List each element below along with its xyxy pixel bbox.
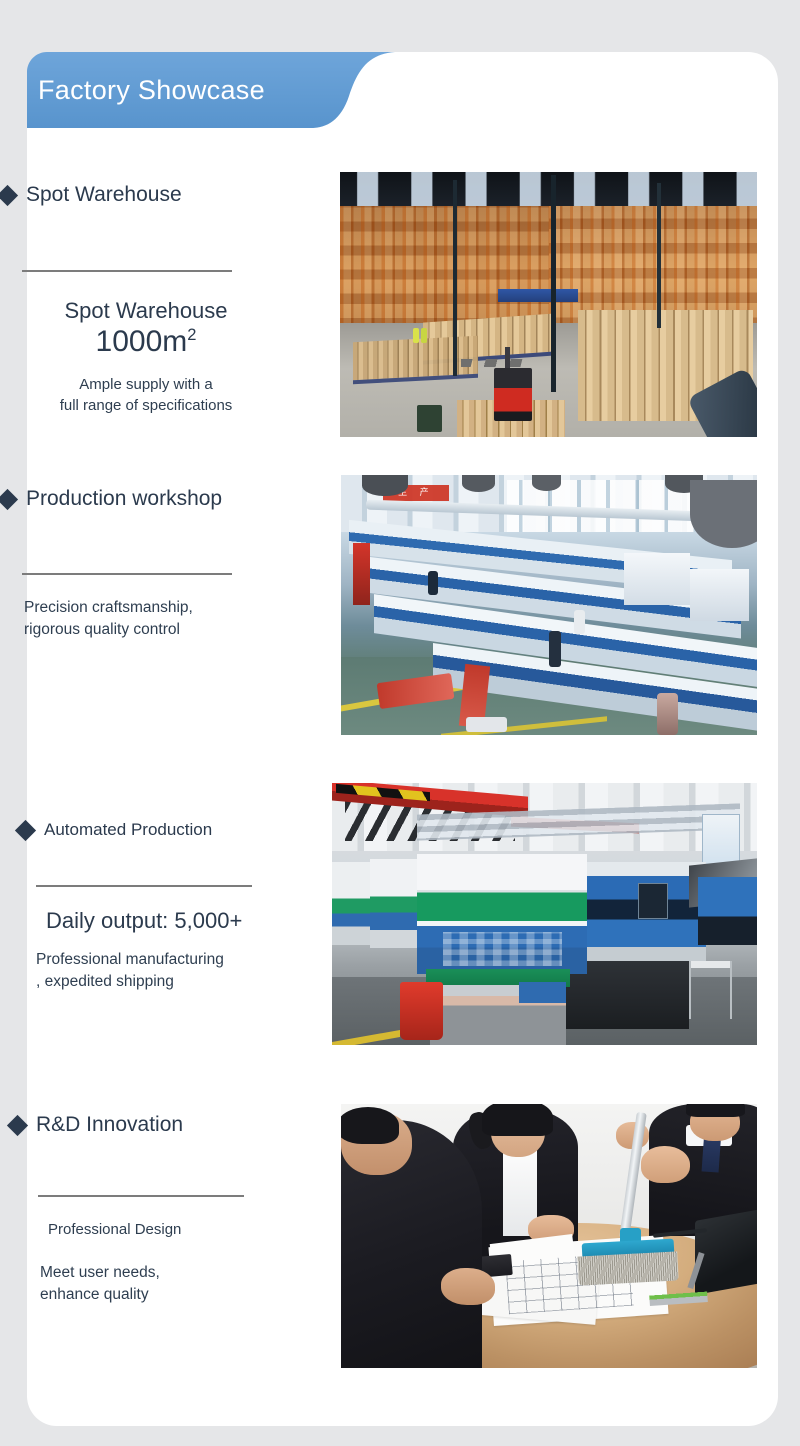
page-title: Factory Showcase	[38, 75, 265, 106]
diamond-icon	[15, 819, 36, 840]
section-heading-row: Automated Production	[18, 820, 330, 840]
description-block: Ample supply with a full range of specif…	[0, 374, 292, 417]
description-block: Precision craftsmanship, rigorous qualit…	[24, 597, 330, 641]
diamond-icon	[7, 1114, 28, 1135]
description-line: Meet user needs,	[40, 1262, 330, 1284]
description-line: Professional Design	[48, 1219, 330, 1240]
description-line: Professional manufacturing	[36, 949, 330, 971]
description-block: Meet user needs, enhance quality	[40, 1262, 330, 1306]
description-line: rigorous quality control	[24, 619, 330, 641]
section-heading: Automated Production	[44, 820, 212, 840]
highlight-superscript: 2	[187, 326, 196, 344]
highlight-number: 1000m	[96, 325, 188, 358]
section-heading-row: Production workshop	[0, 487, 330, 511]
section-heading: Spot Warehouse	[26, 183, 182, 207]
rd-innovation-photo	[341, 1104, 757, 1368]
description-line: , expedited shipping	[36, 971, 330, 993]
description-block: Professional Design	[48, 1219, 330, 1240]
description-line: Ample supply with a	[0, 374, 292, 395]
section-heading-row: Spot Warehouse	[0, 183, 330, 207]
section-divider	[38, 1195, 244, 1197]
description-line: Precision craftsmanship,	[24, 597, 330, 619]
section-heading: R&D Innovation	[36, 1113, 183, 1137]
highlight-block: Spot Warehouse 1000m2	[0, 297, 292, 359]
production-workshop-photo: 生 产	[341, 475, 757, 735]
highlight-value: Daily output: 5,000+	[46, 907, 330, 935]
highlight-block: Daily output: 5,000+	[46, 907, 330, 935]
section-divider	[22, 573, 232, 575]
automated-production-photo	[332, 783, 757, 1045]
highlight-title: Spot Warehouse	[0, 297, 292, 325]
section-divider	[22, 270, 232, 272]
description-line: full range of specifications	[0, 395, 292, 416]
section-heading: Production workshop	[26, 487, 222, 511]
description-line: enhance quality	[40, 1284, 330, 1306]
diamond-icon	[0, 488, 18, 509]
description-block: Professional manufacturing , expedited s…	[36, 949, 330, 993]
spot-warehouse-photo	[340, 172, 757, 437]
diamond-icon	[0, 184, 18, 205]
section-heading-row: R&D Innovation	[10, 1113, 330, 1137]
highlight-value: 1000m2	[0, 325, 292, 360]
section-divider	[36, 885, 252, 887]
